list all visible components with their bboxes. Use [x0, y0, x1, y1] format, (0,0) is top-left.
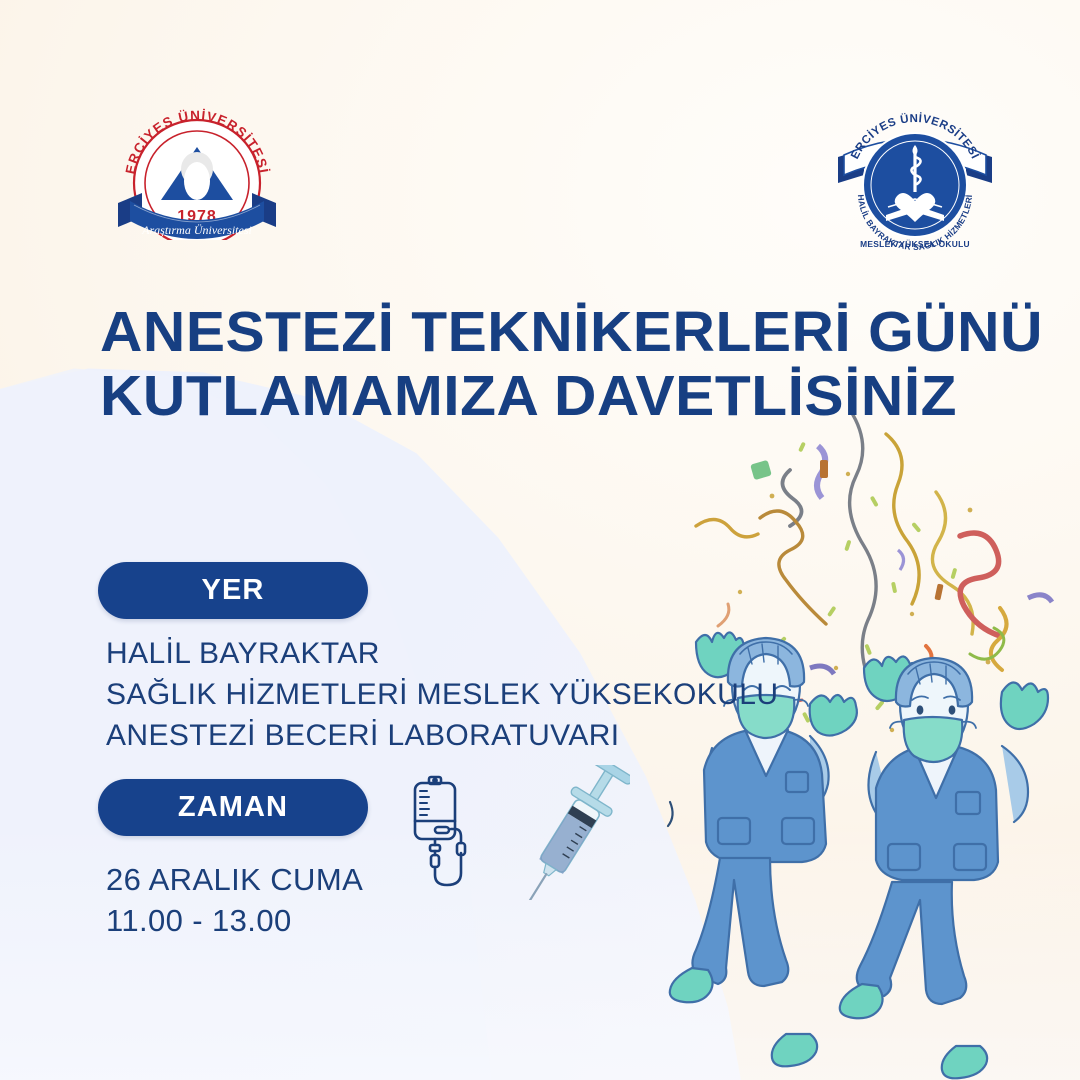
poster-canvas: ERCİYES ÜNİVERSİTESİ 1978 Araştırma Üniv… — [0, 0, 1080, 1080]
venue-line-3: ANESTEZİ BECERİ LABORATUVARI — [106, 719, 620, 753]
svg-text:Araştırma Üniversitesi: Araştırma Üniversitesi — [141, 222, 252, 237]
iv-drip-svg — [405, 775, 495, 895]
time-badge-label: ZAMAN — [178, 791, 288, 824]
venue-line-1: HALİL BAYRAKTAR — [106, 637, 380, 671]
venue-line-2: SAĞLIK HİZMETLERİ MESLEK YÜKSEKOKULU — [106, 678, 778, 712]
event-hours: 11.00 - 13.00 — [106, 903, 292, 939]
iv-drip-icon — [405, 775, 495, 895]
headline-line-1: ANESTEZİ TEKNİKERLERİ GÜNÜ — [100, 300, 1027, 364]
halil-bayraktar-mysk-logo: ERCİYES ÜNİVERSİTESİ HALİL BAYRAKTAR SAĞ… — [830, 105, 1000, 250]
place-badge-label: YER — [202, 574, 265, 607]
syringe-icon — [520, 765, 630, 900]
event-date: 26 ARALIK CUMA — [106, 862, 363, 898]
headline-line-2: KUTLAMAMIZA DAVETLİSİNİZ — [100, 364, 1027, 428]
svg-text:MESLEK YÜKSEK OKULU: MESLEK YÜKSEK OKULU — [860, 239, 970, 249]
syringe-svg — [520, 765, 630, 900]
erciyes-logo-svg: ERCİYES ÜNİVERSİTESİ 1978 Araştırma Üniv… — [112, 105, 282, 240]
mysk-logo-svg: ERCİYES ÜNİVERSİTESİ HALİL BAYRAKTAR SAĞ… — [830, 105, 1000, 250]
page-title: ANESTEZİ TEKNİKERLERİ GÜNÜ KUTLAMAMIZA D… — [100, 300, 1027, 429]
place-badge: YER — [98, 562, 368, 619]
time-badge: ZAMAN — [98, 779, 368, 836]
erciyes-universitesi-logo: ERCİYES ÜNİVERSİTESİ 1978 Araştırma Üniv… — [112, 105, 282, 240]
